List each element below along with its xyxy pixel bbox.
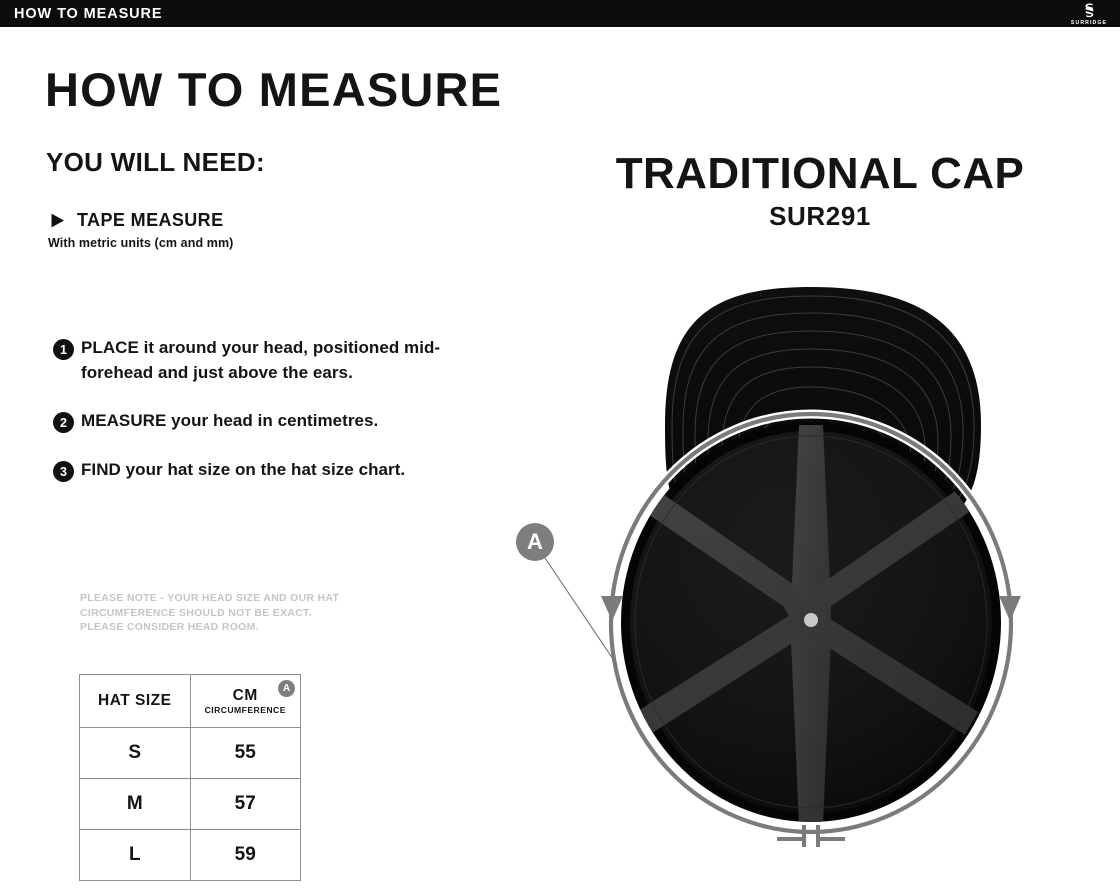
cap-top-view-diagram [505, 265, 1065, 883]
tool-name: TAPE MEASURE [77, 209, 223, 231]
page-title: HOW TO MEASURE [45, 62, 502, 118]
column-header-sublabel: CIRCUMFERENCE [191, 705, 301, 716]
column-header-label: HAT SIZE [80, 692, 190, 710]
table-row: S 55 [80, 728, 301, 779]
you-will-need-heading: YOU WILL NEED: [46, 145, 265, 179]
step-rest: your head in centimetres. [166, 411, 378, 430]
note-line: CIRCUMFERENCE SHOULD NOT BE EXACT. [80, 607, 410, 622]
cell-hat-size: M [80, 779, 191, 830]
step-lead: MEASURE [81, 411, 166, 430]
steps-list: 1 PLACE it around your head, positioned … [53, 336, 453, 507]
cap-crown [621, 422, 1001, 825]
cell-cm: 59 [190, 830, 301, 881]
step-text: PLACE it around your head, positioned mi… [81, 336, 453, 385]
list-item: 1 PLACE it around your head, positioned … [53, 336, 453, 385]
cap-illustration: A [505, 265, 1065, 883]
step-number-badge: 3 [53, 461, 74, 482]
product-code: SUR291 [560, 200, 1080, 232]
callout-leader-line [545, 558, 617, 665]
list-item: 2 MEASURE your head in centimetres. [53, 409, 453, 434]
brand-name: SURRIDGE [1071, 20, 1107, 26]
tool-requirement: TAPE MEASURE With metric units (cm and m… [48, 209, 468, 251]
step-number-badge: 2 [53, 412, 74, 433]
measure-tick-right-icon [816, 825, 820, 847]
table-row: L 59 [80, 830, 301, 881]
note-line: PLEASE CONSIDER HEAD ROOM. [80, 621, 410, 636]
app-header-bar: HOW TO MEASURE SURRIDGE [0, 0, 1120, 27]
list-item: 3 FIND your hat size on the hat size cha… [53, 458, 453, 483]
note-line: PLEASE NOTE - YOUR HEAD SIZE AND OUR HAT [80, 592, 410, 607]
cell-cm: 55 [190, 728, 301, 779]
product-title: TRADITIONAL CAP [560, 148, 1080, 200]
step-lead: PLACE [81, 338, 139, 357]
callout-badge-a: A [516, 523, 554, 561]
step-text: FIND your hat size on the hat size chart… [81, 458, 405, 483]
tool-subtitle: With metric units (cm and mm) [48, 236, 468, 251]
step-text: MEASURE your head in centimetres. [81, 409, 378, 434]
cell-hat-size: L [80, 830, 191, 881]
column-header-hat-size: HAT SIZE [80, 675, 191, 728]
surridge-s-monogram-icon [1081, 2, 1098, 19]
step-lead: FIND [81, 460, 121, 479]
step-rest: your hat size on the hat size chart. [121, 460, 405, 479]
header-title: HOW TO MEASURE [14, 5, 162, 23]
play-triangle-icon [48, 211, 67, 230]
table-header-row: HAT SIZE CM CIRCUMFERENCE A [80, 675, 301, 728]
column-header-cm: CM CIRCUMFERENCE A [190, 675, 301, 728]
cell-cm: 57 [190, 779, 301, 830]
cell-hat-size: S [80, 728, 191, 779]
crown-center-button-icon [804, 613, 818, 627]
disclaimer-note: PLEASE NOTE - YOUR HEAD SIZE AND OUR HAT… [80, 592, 410, 636]
hat-size-chart: HAT SIZE CM CIRCUMFERENCE A S 55 M 57 L … [79, 674, 301, 881]
callout-badge-a: A [278, 680, 295, 697]
measure-arrow-right-icon [999, 596, 1021, 621]
table-row: M 57 [80, 779, 301, 830]
brand-logo: SURRIDGE [1066, 2, 1112, 26]
measure-arrow-left-icon [601, 596, 623, 621]
step-number-badge: 1 [53, 339, 74, 360]
measure-tick-left-icon [802, 825, 806, 847]
